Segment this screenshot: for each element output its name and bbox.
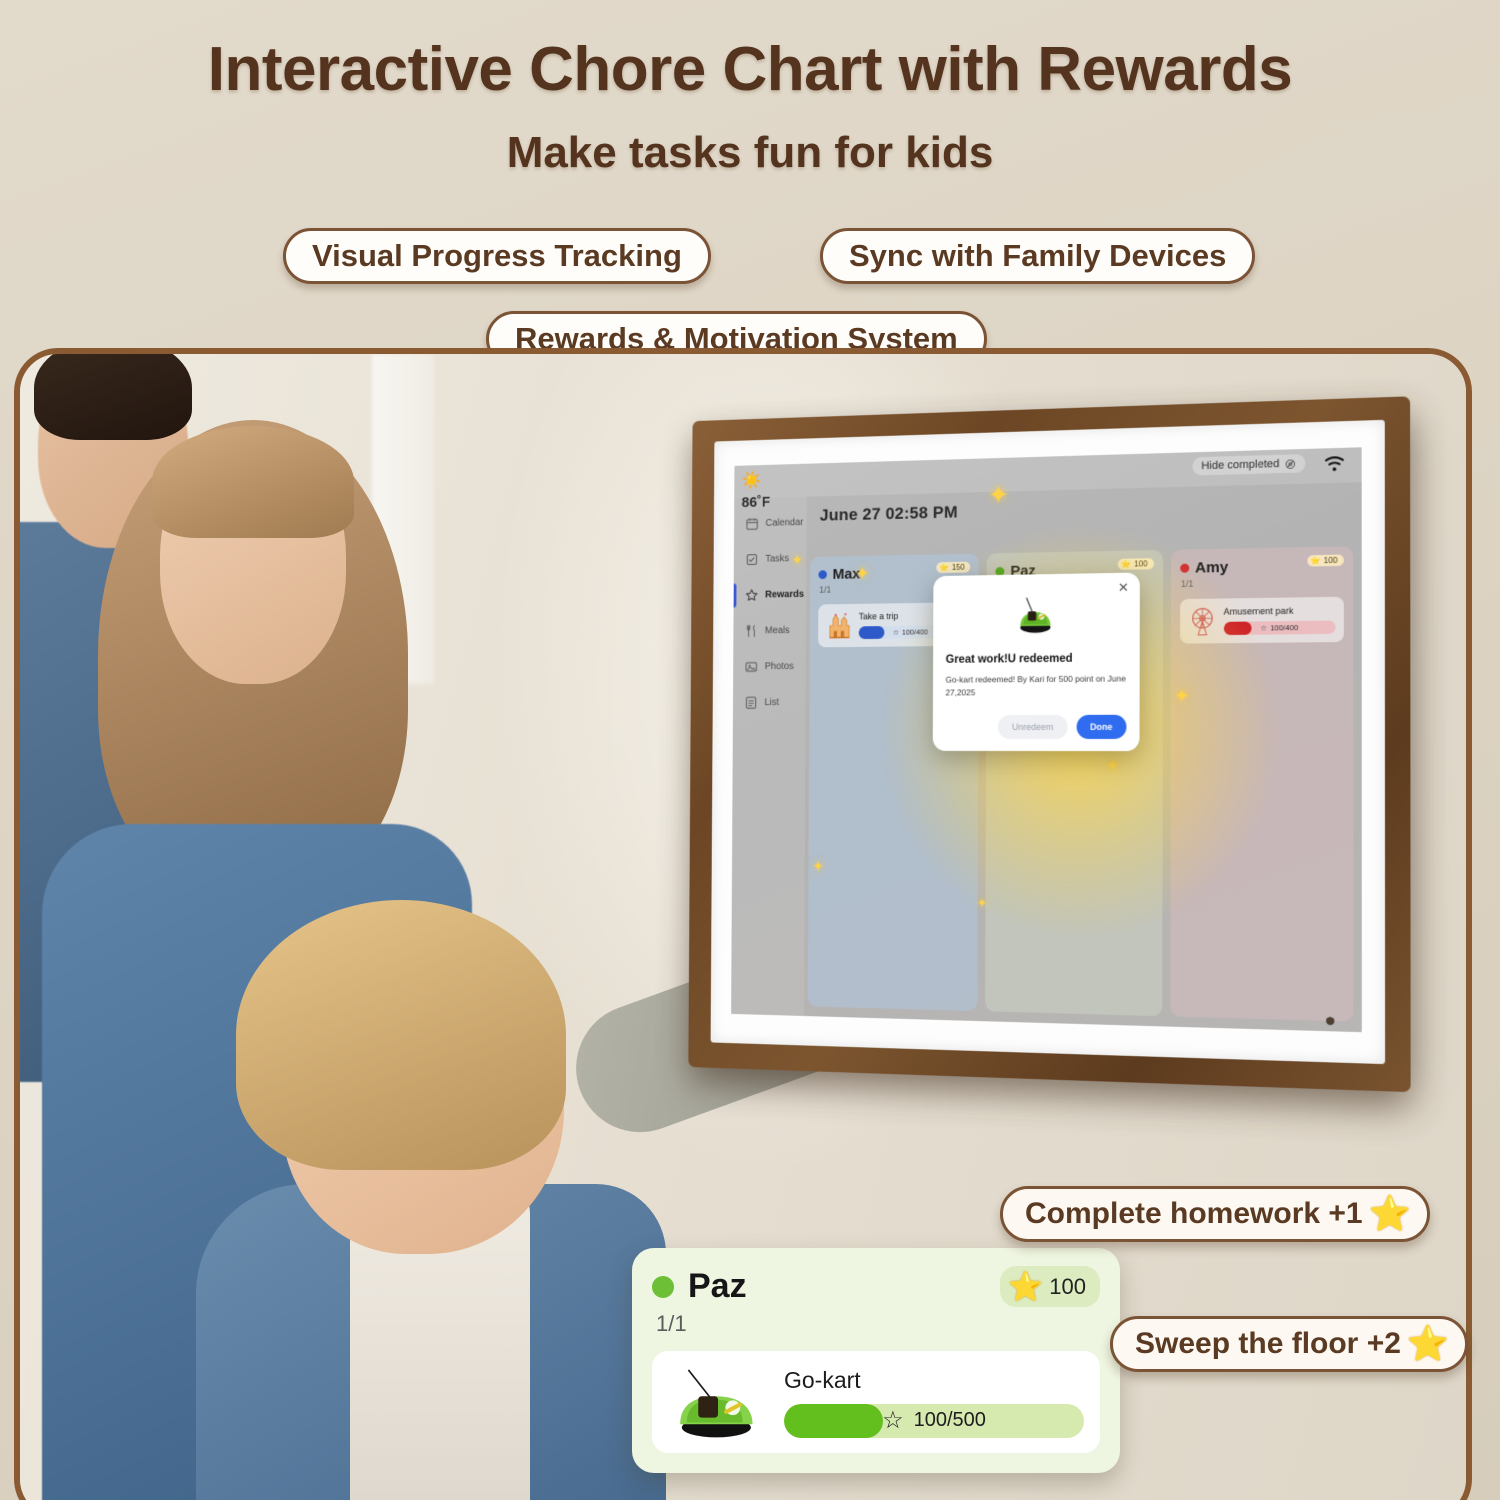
temperature: 86˚F (742, 494, 771, 511)
star-icon: ⭐ (1310, 556, 1320, 565)
featured-kid-card[interactable]: Paz ⭐ 100 1/1 Go-kart (632, 1248, 1120, 1473)
modal-body: Go-kart redeemed! By Kari for 500 point … (945, 672, 1126, 699)
unredeem-button[interactable]: Unredeem (998, 714, 1067, 738)
points-badge: ⭐ 100 (1000, 1266, 1100, 1307)
screen-sidebar: Calendar Tasks (731, 497, 807, 1016)
cutlery-icon (744, 624, 758, 639)
sun-icon: ☀️ (742, 471, 771, 491)
kid-columns: ⭐ 150 Max 1/1 (808, 546, 1354, 1021)
sidebar-label: Rewards (765, 589, 804, 600)
callout-sweep-floor: Sweep the floor +2 ⭐ (1110, 1316, 1468, 1372)
kid-progress: 1/1 (656, 1311, 1100, 1337)
wall-mounted-tablet: Hide completed (688, 396, 1410, 1092)
tablet-screen[interactable]: Hide completed (731, 447, 1362, 1032)
sidebar-item-rewards[interactable]: Rewards (734, 576, 807, 613)
points-badge: ⭐ 100 (1307, 555, 1344, 567)
star-outline-icon (745, 588, 759, 603)
progress-label-wrap: ☆ 100/400 (1223, 620, 1335, 635)
castle-icon (826, 611, 853, 641)
kid-header: Amy (1180, 557, 1344, 577)
progress-label-wrap: ☆ 100/500 (784, 1404, 1084, 1438)
kid-name: Paz (688, 1267, 747, 1306)
tasks-icon (745, 552, 759, 567)
go-kart-icon (668, 1365, 768, 1439)
points-value: 100 (1049, 1274, 1086, 1300)
wifi-icon (1324, 455, 1345, 472)
reward-body: Go-kart ☆ 100/500 (784, 1367, 1084, 1438)
modal-illustration (946, 594, 1127, 636)
points-value: 100 (1324, 556, 1338, 565)
sparkle-icon: ✦ (1174, 685, 1190, 708)
points-value: 100 (1134, 559, 1147, 568)
tablet-wood-frame: Hide completed (688, 396, 1410, 1092)
callout-complete-homework: Complete homework +1 ⭐ (1000, 1186, 1430, 1242)
sidebar-item-meals[interactable]: Meals (733, 612, 806, 649)
kid-color-dot (818, 570, 827, 579)
progress-label: 100/400 (1270, 623, 1298, 633)
callout-label: Complete homework +1 (1025, 1197, 1363, 1231)
poster-stage: Interactive Chore Chart with Rewards Mak… (0, 0, 1500, 1500)
weather-widget: ☀️ 86˚F (742, 471, 771, 511)
boy-hair (236, 900, 566, 1170)
star-outline-icon: ☆ (1260, 623, 1267, 632)
close-icon[interactable]: ✕ (1118, 581, 1129, 594)
reward-progress-bar: ☆ 100/500 (784, 1404, 1084, 1438)
star-outline-icon: ☆ (893, 628, 899, 637)
sparkle-icon: ✦ (1105, 756, 1119, 776)
page-title: Interactive Chore Chart with Rewards (0, 34, 1500, 105)
go-kart-icon (1013, 595, 1058, 635)
sidebar-label: List (764, 697, 779, 708)
star-icon: ⭐ (939, 563, 949, 572)
reward-name: Go-kart (784, 1367, 1084, 1394)
progress-label: 100/400 (902, 627, 928, 636)
star-icon: ⭐ (1121, 560, 1131, 569)
feature-pill-sync-devices: Sync with Family Devices (820, 228, 1255, 284)
star-icon: ⭐ (1369, 1194, 1411, 1234)
feature-pill-label: Sync with Family Devices (849, 238, 1226, 274)
done-button[interactable]: Done (1076, 714, 1126, 738)
mother-hair-top (152, 426, 354, 538)
sidebar-label: Photos (765, 661, 794, 672)
points-value: 150 (952, 563, 965, 572)
reward-row[interactable]: Go-kart ☆ 100/500 (652, 1351, 1100, 1453)
sidebar-item-lists[interactable]: List (733, 684, 806, 720)
list-icon (744, 695, 758, 710)
sidebar-label: Calendar (766, 517, 804, 529)
star-icon: ⭐ (1008, 1270, 1043, 1303)
reward-progress-bar: ☆ 100/400 (1223, 620, 1335, 635)
kid-name: Max (833, 566, 861, 583)
progress-fill (1223, 622, 1251, 636)
photo-icon (744, 660, 758, 675)
reward-body: Amusement park ☆ 100/400 (1223, 605, 1335, 635)
father-hair (34, 348, 192, 440)
page-subtitle: Make tasks fun for kids (0, 128, 1500, 178)
hide-completed-label: Hide completed (1201, 458, 1279, 472)
tablet-bezel: Hide completed (711, 420, 1386, 1064)
modal-title: Great work!U redeemed (946, 652, 1127, 666)
sidebar-label: Meals (765, 625, 790, 636)
reward-row[interactable]: Amusement park ☆ 100/400 (1180, 597, 1344, 644)
reward-name: Amusement park (1224, 605, 1336, 617)
kid-color-dot (652, 1276, 674, 1298)
star-icon: ⭐ (1407, 1324, 1449, 1364)
sidebar-item-photos[interactable]: Photos (733, 648, 806, 685)
feature-pill-visual-progress: Visual Progress Tracking (283, 228, 711, 284)
eye-off-icon (1285, 458, 1296, 470)
star-outline-icon: ☆ (882, 1406, 904, 1435)
screen-topbar (734, 447, 1361, 498)
sidebar-item-tasks[interactable]: Tasks (734, 540, 807, 577)
progress-label: 100/500 (914, 1409, 986, 1432)
datetime-display: June 27 02:58 PM (820, 503, 958, 526)
calendar-icon (745, 516, 759, 531)
featured-card-header: Paz ⭐ 100 (652, 1266, 1100, 1307)
feature-pill-label: Visual Progress Tracking (312, 238, 682, 274)
sidebar-label: Tasks (765, 553, 789, 564)
modal-actions: Unredeem Done (945, 714, 1126, 738)
power-indicator (1326, 1017, 1334, 1026)
points-badge: ⭐ 150 (936, 562, 970, 573)
callout-label: Sweep the floor +2 (1135, 1327, 1401, 1361)
reward-redeemed-modal: ✕ (933, 573, 1140, 751)
